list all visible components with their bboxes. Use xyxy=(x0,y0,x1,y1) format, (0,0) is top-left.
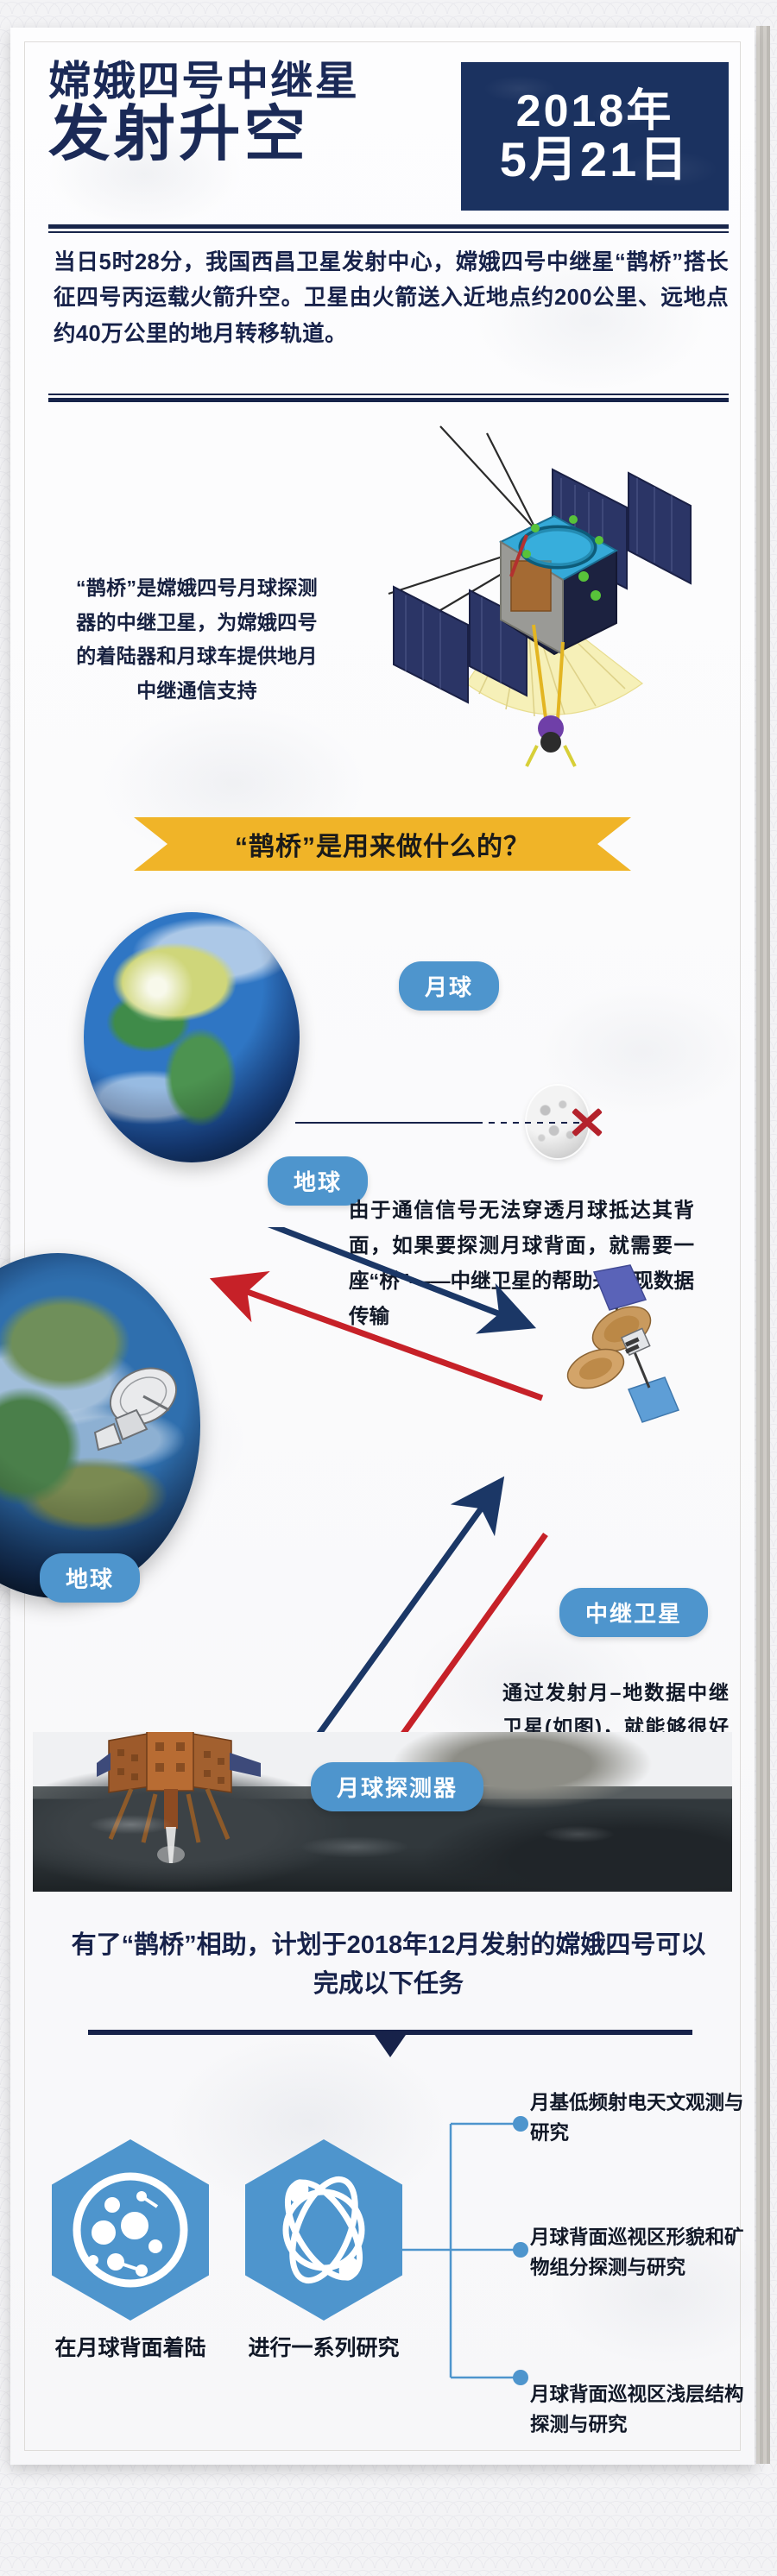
date-badge: 2018年 5月21日 xyxy=(461,62,729,211)
moon-craters-icon xyxy=(52,2139,209,2321)
divider-top xyxy=(48,224,729,233)
mission-connector-lines xyxy=(390,2094,546,2457)
badge-lunar-probe: 月球探测器 xyxy=(311,1762,483,1811)
mission-heading: 有了“鹊桥”相助，计划于2018年12月发射的嫦娥四号可以完成以下任务 xyxy=(60,1926,717,2004)
satellite-section: “鹊桥”是嫦娥四号月球探测器的中继卫星，为嫦娥四号的着陆器和月球车提供地月中继通… xyxy=(10,425,755,796)
mission-item-3: 月球背面巡视区浅层结构探测与研究 xyxy=(530,2379,746,2440)
divider-bottom xyxy=(48,394,729,402)
lead-paragraph: 当日5时28分，我国西昌卫星发射中心，嫦娥四号中继星“鹊桥”搭长征四号丙运载火箭… xyxy=(54,245,729,352)
badge-lunar-probe-label: 月球探测器 xyxy=(311,1762,483,1811)
hex-icon-research xyxy=(245,2139,402,2321)
badge-moon-label: 月球 xyxy=(399,961,499,1011)
blocked-signal-x-icon xyxy=(567,1103,605,1141)
relay-diagram-section: 地球 中继卫星 xyxy=(10,1227,755,1762)
moon-explainer-section: 月球 地球 由于通信信号无法穿透月球抵达其背面，如果要探测月球背面，就需要一座“… xyxy=(10,882,755,1279)
hex-icon-lunar-landing xyxy=(52,2139,209,2321)
mission-caret-icon xyxy=(375,2035,406,2057)
ribbon-label: “鹊桥”是用来做什么的？ xyxy=(235,825,530,863)
arrow-relay-to-earth xyxy=(221,1282,542,1398)
relay-satellite-illustration xyxy=(357,425,729,787)
page-title-line-2: 发射升空 xyxy=(48,104,462,164)
header: 嫦娥四号中继星 发射升空 2018年 5月21日 xyxy=(48,60,729,216)
page-title-line-1: 嫦娥四号中继星 xyxy=(48,60,475,101)
mission-list-section: 在月球背面着陆 进行一系列研究 月基低频射电天文观测与研究 月球背面巡视区形貌和… xyxy=(10,2094,755,2457)
badge-moon: 月球 xyxy=(399,961,499,1011)
earth-globe-image xyxy=(84,912,300,1162)
signal-path-line xyxy=(295,1120,580,1125)
arrow-probe-to-relay xyxy=(219,1486,497,1762)
section-ribbon: “鹊桥”是用来做什么的？ xyxy=(134,817,631,871)
infographic-card: 嫦娥四号中继星 发射升空 2018年 5月21日 当日5时28分，我国西昌卫星发… xyxy=(10,28,755,2465)
lunar-lander-illustration xyxy=(93,1732,266,1867)
mission-item-2: 月球背面巡视区形貌和矿物组分探测与研究 xyxy=(530,2222,746,2283)
date-year: 2018年 xyxy=(516,88,674,135)
title-block: 嫦娥四号中继星 发射升空 xyxy=(48,60,454,164)
mission-item-1: 月基低频射电天文观测与研究 xyxy=(530,2088,746,2148)
hex-caption-1: 在月球背面着陆 xyxy=(44,2334,217,2365)
lunar-surface-image xyxy=(33,1732,732,1892)
date-day: 5月21日 xyxy=(500,135,690,185)
hex-caption-2: 进行一系列研究 xyxy=(237,2334,410,2365)
atom-research-icon xyxy=(245,2139,402,2321)
satellite-description: “鹊桥”是嫦娥四号月球探测器的中继卫星，为嫦娥四号的着陆器和月球车提供地月中继通… xyxy=(67,571,326,708)
